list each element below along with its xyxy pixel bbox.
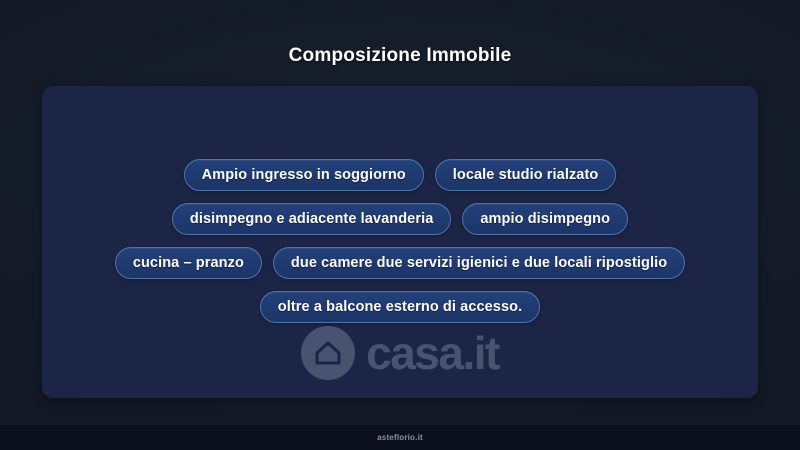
- feature-pill[interactable]: oltre a balcone esterno di accesso.: [260, 291, 540, 323]
- feature-pill[interactable]: cucina – pranzo: [115, 247, 262, 279]
- footer-bar: asteflorio.it: [0, 425, 800, 450]
- pill-row: oltre a balcone esterno di accesso.: [260, 291, 540, 323]
- feature-pill[interactable]: Ampio ingresso in soggiorno: [184, 159, 424, 191]
- feature-pill[interactable]: due camere due servizi igienici e due lo…: [273, 247, 685, 279]
- house-in-circle-icon: [301, 326, 355, 380]
- pill-row: Ampio ingresso in soggiorno locale studi…: [184, 159, 617, 191]
- pill-row: cucina – pranzo due camere due servizi i…: [115, 247, 685, 279]
- pill-rows: Ampio ingresso in soggiorno locale studi…: [42, 159, 758, 323]
- feature-pill[interactable]: locale studio rialzato: [435, 159, 617, 191]
- watermark: casa.it: [42, 326, 758, 380]
- pill-row: disimpegno e adiacente lavanderia ampio …: [172, 203, 628, 235]
- page-title: Composizione Immobile: [0, 45, 800, 67]
- feature-pill[interactable]: ampio disimpegno: [462, 203, 628, 235]
- composition-card: Ampio ingresso in soggiorno locale studi…: [42, 86, 758, 398]
- slide: Composizione Immobile Ampio ingresso in …: [0, 0, 800, 450]
- footer-site-label: asteflorio.it: [377, 433, 423, 442]
- feature-pill[interactable]: disimpegno e adiacente lavanderia: [172, 203, 451, 235]
- watermark-text: casa.it: [366, 330, 499, 376]
